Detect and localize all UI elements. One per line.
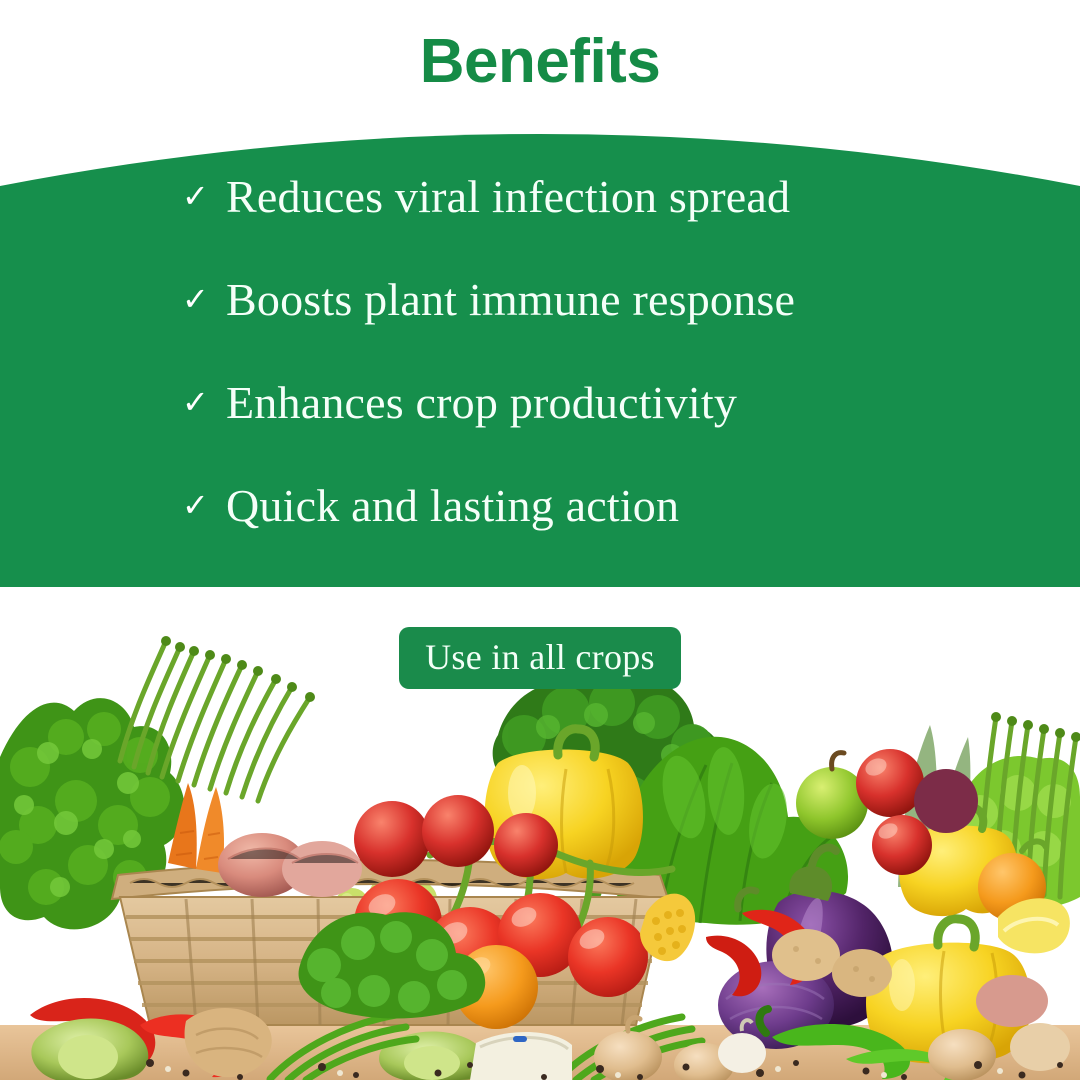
benefit-label: Quick and lasting action (226, 483, 679, 529)
benefits-poster: Benefits ✓ Reduces viral infection sprea… (0, 0, 1080, 1080)
badge-row: Use in all crops (0, 627, 1080, 689)
list-item: ✓ Quick and lasting action (182, 476, 679, 536)
list-item: ✓ Boosts plant immune response (182, 270, 795, 330)
check-icon: ✓ (182, 489, 226, 521)
check-icon: ✓ (182, 283, 226, 315)
status-badge: Use in all crops (399, 627, 681, 689)
benefit-label: Boosts plant immune response (226, 277, 795, 323)
list-item: ✓ Reduces viral infection spread (182, 167, 790, 227)
check-icon: ✓ (182, 180, 226, 212)
page-title: Benefits (420, 25, 661, 93)
title-bar: Benefits (0, 0, 1080, 118)
benefit-label: Reduces viral infection spread (226, 174, 790, 220)
benefit-label: Enhances crop productivity (226, 380, 737, 426)
check-icon: ✓ (182, 386, 226, 418)
list-item: ✓ Enhances crop productivity (182, 373, 737, 433)
